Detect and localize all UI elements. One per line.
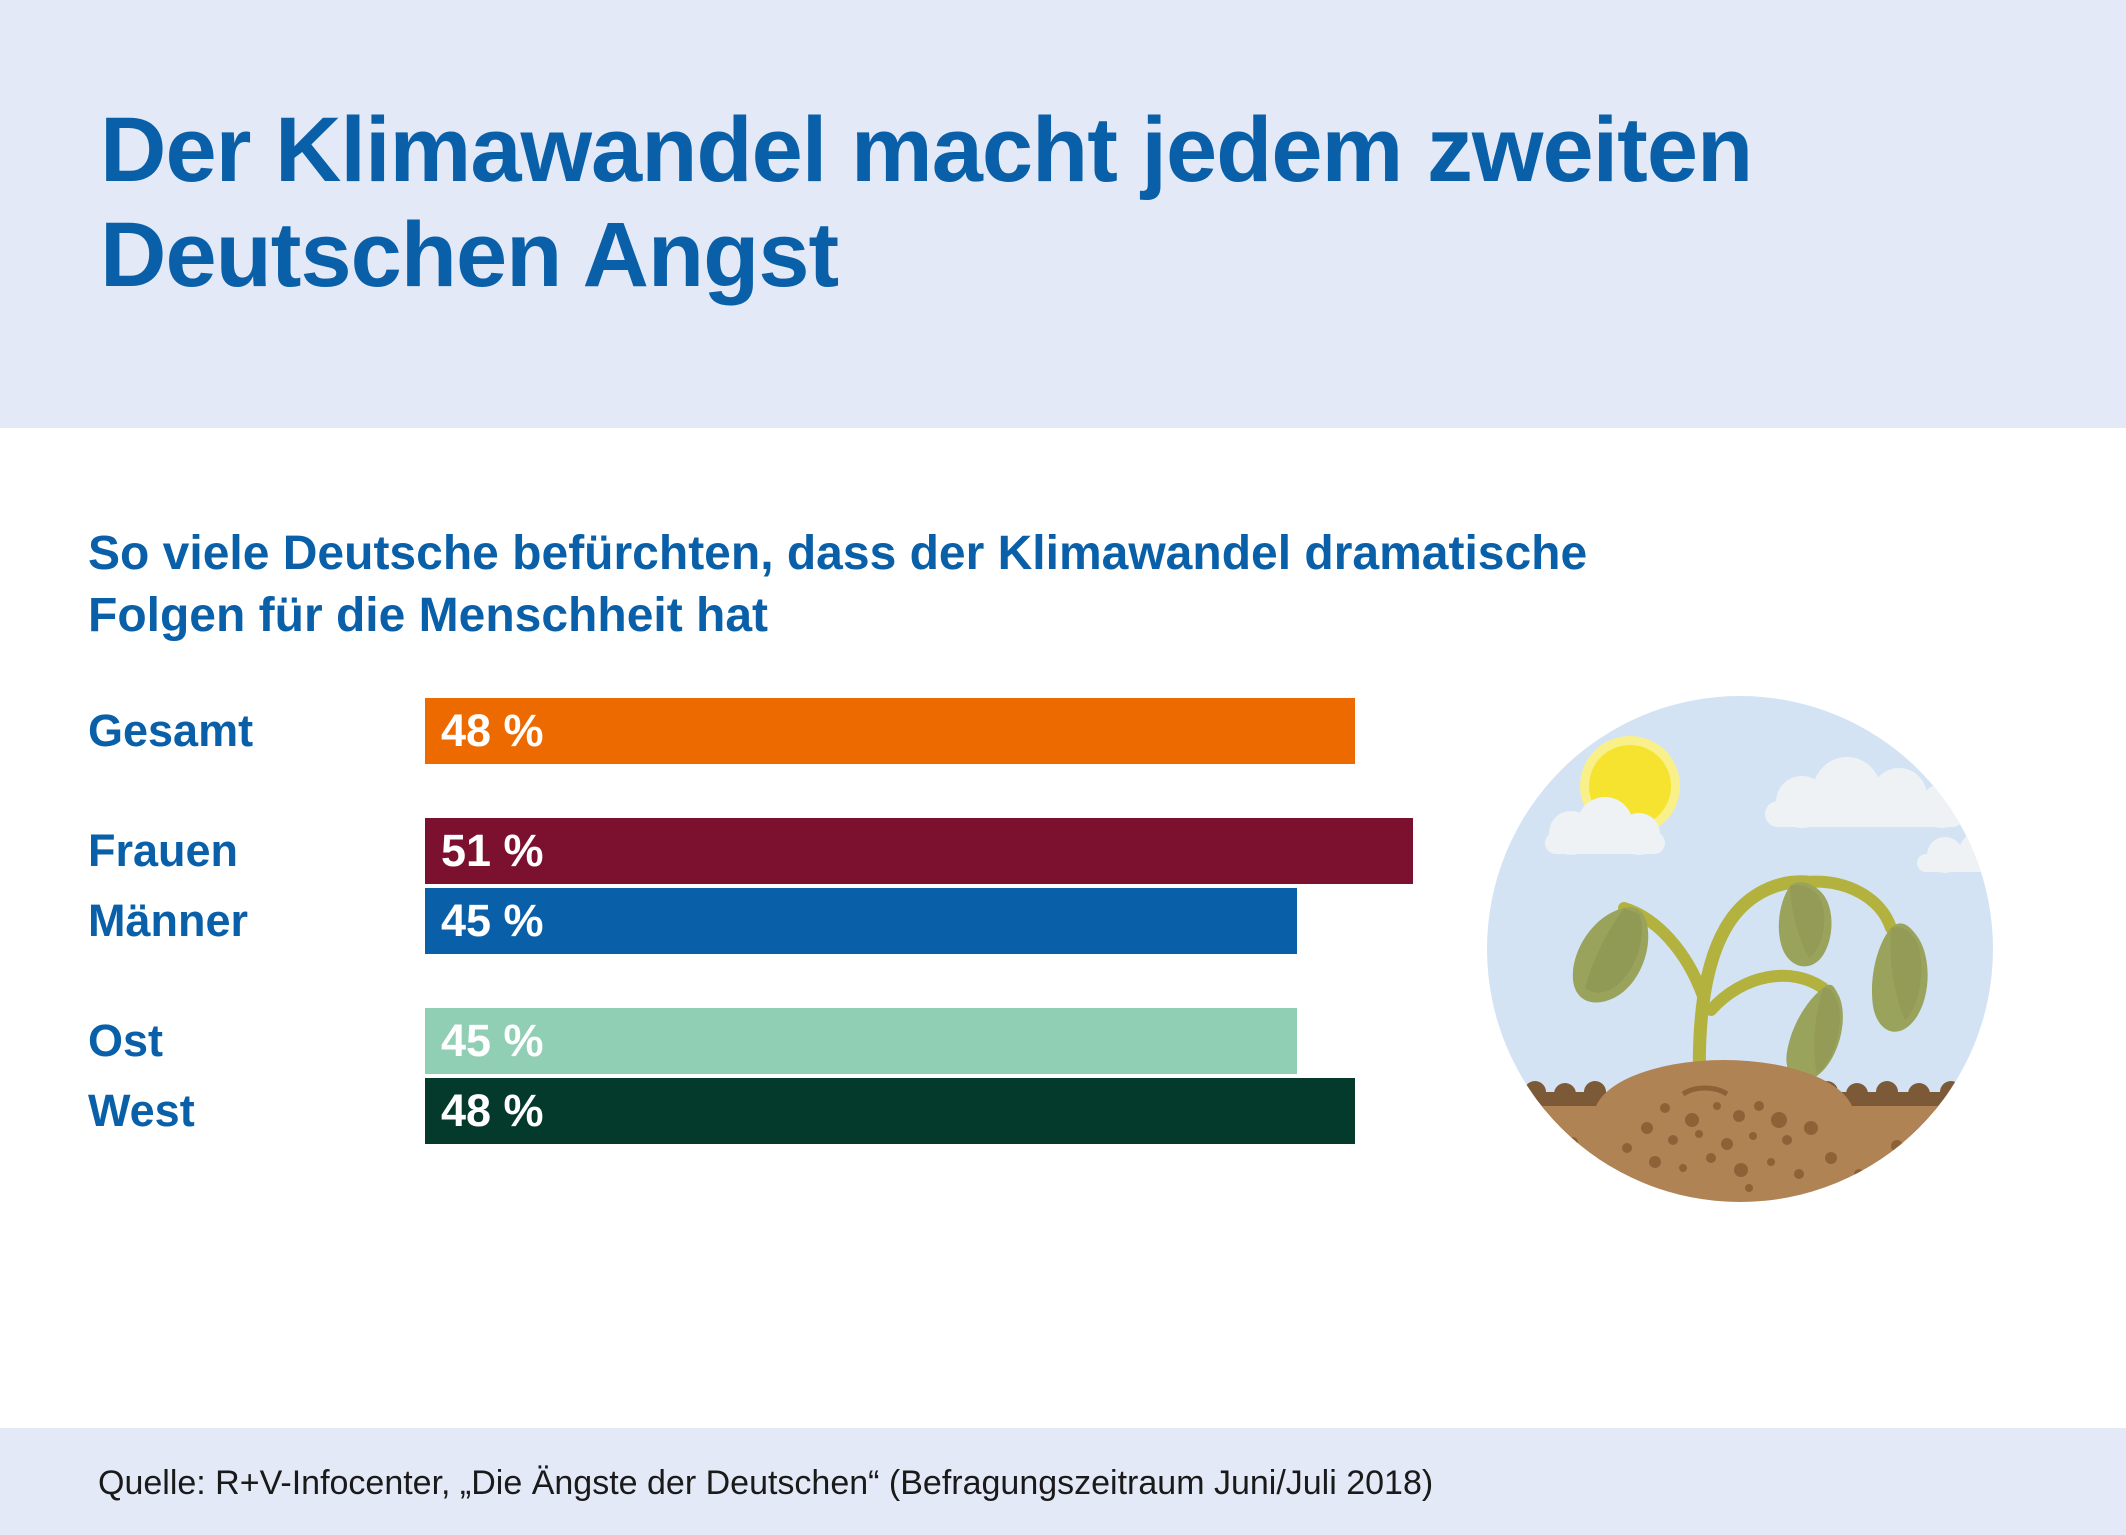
bar-value-gesamt: 48 %: [425, 705, 544, 757]
chart-row-gesamt: Gesamt 48 %: [0, 698, 1460, 764]
bar-label-ost: Ost: [88, 1008, 163, 1074]
chart-row-maenner: Männer 45 %: [0, 888, 1460, 954]
bar-label-maenner: Männer: [88, 888, 248, 954]
bar-value-frauen: 51 %: [425, 825, 544, 877]
bar-label-frauen: Frauen: [88, 818, 238, 884]
source-note: Quelle: R+V-Infocenter, „Die Ängste der …: [98, 1464, 1433, 1503]
bar-label-gesamt: Gesamt: [88, 698, 253, 764]
bar-chart: Gesamt 48 % Frauen 51 % Männer 45 % Ost …: [0, 698, 1460, 1168]
footer-band: Quelle: R+V-Infocenter, „Die Ängste der …: [0, 1428, 2126, 1535]
main-content: So viele Deutsche befürchten, dass der K…: [0, 428, 2126, 1428]
chart-subtitle: So viele Deutsche befürchten, dass der K…: [88, 523, 1648, 648]
wilting-plant-illustration: [1487, 696, 1993, 1202]
bar-frauen: 51 %: [425, 818, 1413, 884]
bar-ost: 45 %: [425, 1008, 1297, 1074]
bar-maenner: 45 %: [425, 888, 1297, 954]
chart-row-west: West 48 %: [0, 1078, 1460, 1144]
bar-value-maenner: 45 %: [425, 895, 544, 947]
page-title: Der Klimawandel macht jedem zweiten Deut…: [100, 98, 1800, 308]
bar-value-ost: 45 %: [425, 1015, 544, 1067]
chart-row-ost: Ost 45 %: [0, 1008, 1460, 1074]
chart-row-frauen: Frauen 51 %: [0, 818, 1460, 884]
bar-label-west: West: [88, 1078, 195, 1144]
bar-gesamt: 48 %: [425, 698, 1355, 764]
bar-west: 48 %: [425, 1078, 1355, 1144]
bar-value-west: 48 %: [425, 1085, 544, 1137]
header-band: Der Klimawandel macht jedem zweiten Deut…: [0, 0, 2126, 428]
